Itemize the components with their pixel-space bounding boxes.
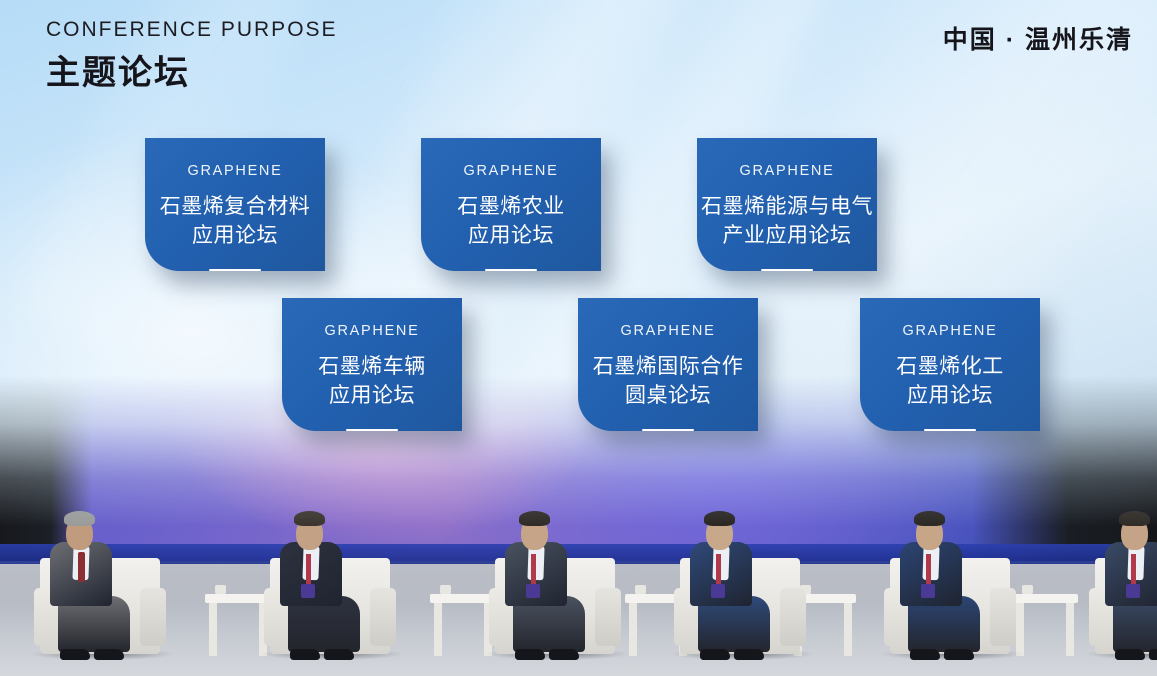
page-header: CONFERENCE PURPOSE 主题论坛 — [46, 18, 338, 92]
shoe — [700, 649, 730, 660]
shoe — [910, 649, 940, 660]
page-title: 主题论坛 — [46, 55, 338, 92]
forum-card-title: 石墨烯国际合作 圆桌论坛 — [593, 352, 744, 411]
forum-card-underline — [209, 269, 261, 271]
dress-shirt — [1127, 546, 1144, 581]
forum-card-title: 石墨烯车辆 应用论坛 — [318, 352, 426, 411]
lanyard — [306, 554, 311, 588]
badge — [921, 584, 935, 598]
panelist-hair — [519, 511, 550, 526]
panelist-hair — [64, 511, 95, 526]
panelist-seat — [495, 504, 623, 654]
shoe — [290, 649, 320, 660]
table-leg — [844, 603, 852, 656]
lanyard — [1131, 554, 1136, 588]
panelist-seat — [1095, 504, 1157, 654]
side-table — [430, 594, 496, 656]
panelist-seat — [40, 504, 168, 654]
badge — [1126, 584, 1140, 598]
shoe — [94, 649, 124, 660]
shoe — [324, 649, 354, 660]
forum-card-eyebrow: GRAPHENE — [621, 323, 716, 339]
panelist-seat — [270, 504, 398, 654]
forum-card-eyebrow: GRAPHENE — [188, 163, 283, 179]
lanyard — [926, 554, 931, 588]
dress-shirt — [712, 546, 729, 581]
forum-card-eyebrow: GRAPHENE — [740, 163, 835, 179]
side-table — [205, 594, 271, 656]
forum-card[interactable]: GRAPHENE石墨烯农业 应用论坛 — [421, 138, 601, 271]
forum-card-eyebrow: GRAPHENE — [325, 323, 420, 339]
badge — [526, 584, 540, 598]
shoe — [1115, 649, 1145, 660]
lanyard — [531, 554, 536, 588]
forum-card-underline — [485, 269, 537, 271]
slide-root: CONFERENCE PURPOSE 主题论坛 中国 · 温州乐清 GRAPHE… — [0, 0, 1157, 676]
badge — [301, 584, 315, 598]
forum-card[interactable]: GRAPHENE石墨烯化工 应用论坛 — [860, 298, 1040, 431]
shoe — [734, 649, 764, 660]
forum-card-underline — [761, 269, 813, 271]
dress-shirt — [922, 546, 939, 581]
forum-card-eyebrow: GRAPHENE — [903, 323, 998, 339]
shoe — [944, 649, 974, 660]
panelist-hair — [704, 511, 735, 526]
side-table — [1012, 594, 1078, 656]
panelist-hair — [1119, 511, 1150, 526]
dress-shirt — [302, 546, 319, 581]
panelist-seat — [890, 504, 1018, 654]
forum-card[interactable]: GRAPHENE石墨烯能源与电气 产业应用论坛 — [697, 138, 877, 271]
forum-card-title: 石墨烯化工 应用论坛 — [896, 352, 1004, 411]
location-label: 中国 · 温州乐清 — [943, 20, 1133, 56]
forum-card-eyebrow: GRAPHENE — [464, 163, 559, 179]
table-top — [205, 594, 271, 603]
panelist-hair — [294, 511, 325, 526]
table-leg — [434, 603, 442, 656]
table-leg — [629, 603, 637, 656]
forum-card-title: 石墨烯能源与电气 产业应用论坛 — [701, 192, 873, 251]
table-leg — [209, 603, 217, 656]
header-eyebrow: CONFERENCE PURPOSE — [46, 18, 338, 41]
table-top — [430, 594, 496, 603]
lanyard — [716, 554, 721, 588]
forum-card[interactable]: GRAPHENE石墨烯复合材料 应用论坛 — [145, 138, 325, 271]
forum-card-underline — [924, 429, 976, 431]
forum-card-title: 石墨烯农业 应用论坛 — [457, 192, 565, 251]
table-leg — [1066, 603, 1074, 656]
shoe — [60, 649, 90, 660]
shoe — [549, 649, 579, 660]
forum-card[interactable]: GRAPHENE石墨烯国际合作 圆桌论坛 — [578, 298, 758, 431]
badge — [711, 584, 725, 598]
table-top — [1012, 594, 1078, 603]
forum-card-underline — [346, 429, 398, 431]
dress-shirt — [527, 546, 544, 581]
forum-card-title: 石墨烯复合材料 应用论坛 — [160, 192, 311, 251]
panelist-seat — [680, 504, 808, 654]
necktie — [78, 552, 85, 582]
forum-card[interactable]: GRAPHENE石墨烯车辆 应用论坛 — [282, 298, 462, 431]
panelist-hair — [914, 511, 945, 526]
shoe — [515, 649, 545, 660]
shoe — [1149, 649, 1157, 660]
forum-card-underline — [642, 429, 694, 431]
